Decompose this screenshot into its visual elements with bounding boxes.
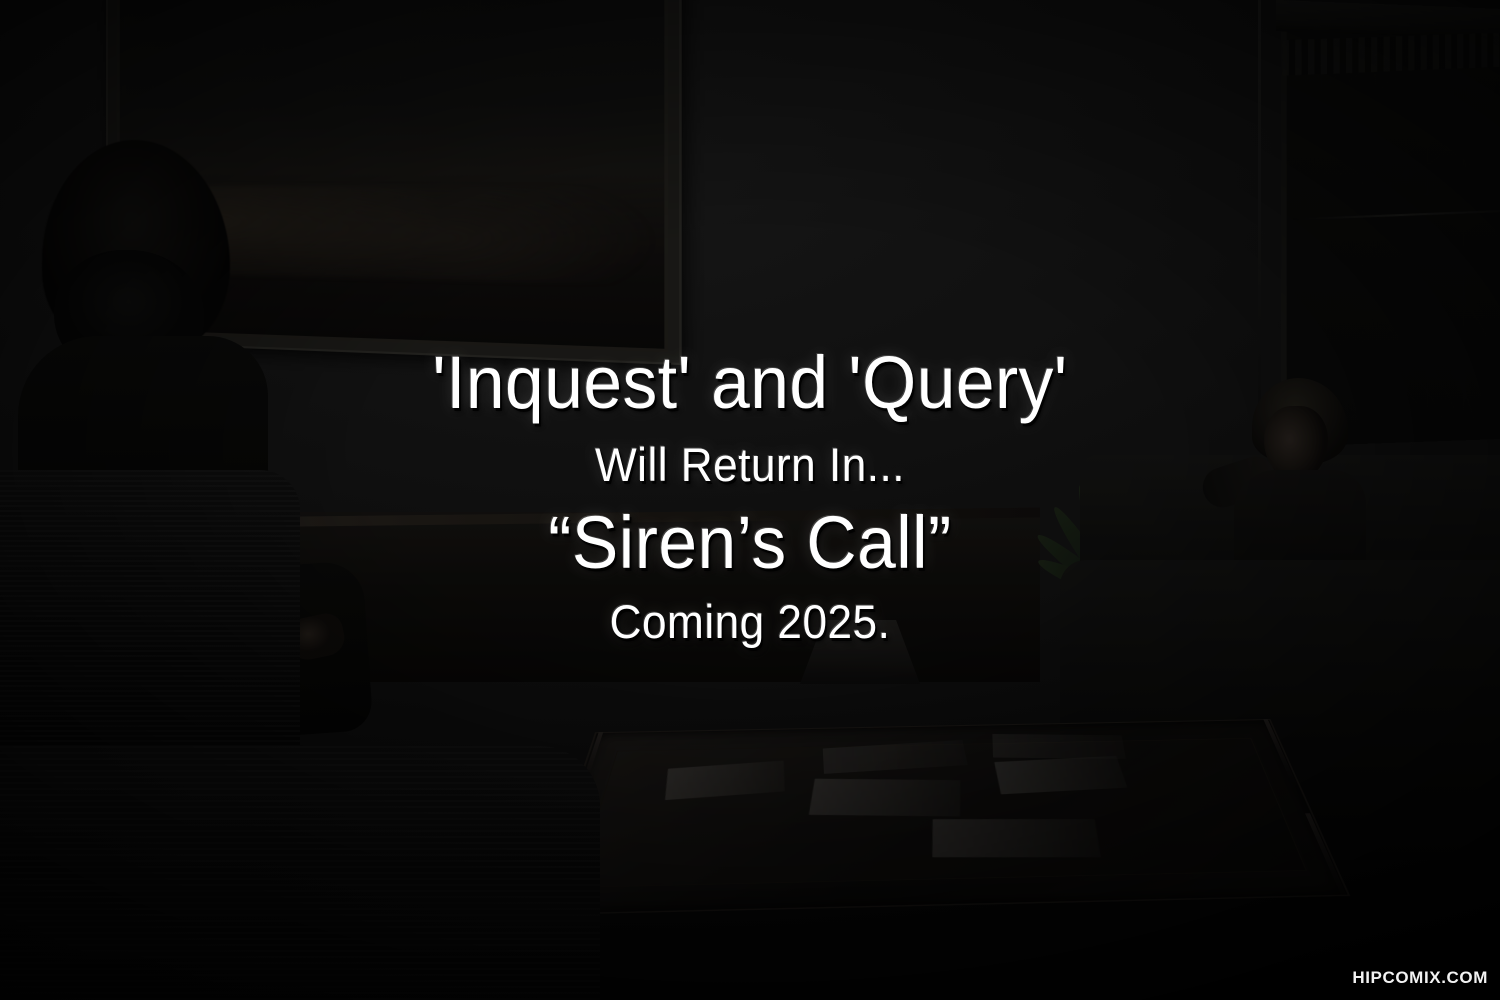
sofa-front-left	[0, 746, 600, 1000]
watermark-hipcomix: HIPCOMIX.COM	[1352, 968, 1488, 988]
overlay-title-line-1: 'Inquest' and 'Query'	[45, 340, 1455, 425]
door-blinds	[1282, 32, 1500, 76]
sofa-texture	[0, 746, 600, 1000]
magazine	[932, 819, 1101, 857]
glass-coffee-table	[533, 719, 1350, 915]
teaser-image: 'Inquest' and 'Query' Will Return In... …	[0, 0, 1500, 1000]
magazine	[665, 761, 785, 801]
overlay-title-line-2: “Siren’s Call”	[45, 500, 1455, 585]
door-rail	[1293, 209, 1500, 220]
magazine	[994, 756, 1127, 795]
overlay-subtitle-line-2: Coming 2025.	[45, 594, 1455, 649]
overlay-subtitle-line-1: Will Return In...	[45, 437, 1455, 492]
